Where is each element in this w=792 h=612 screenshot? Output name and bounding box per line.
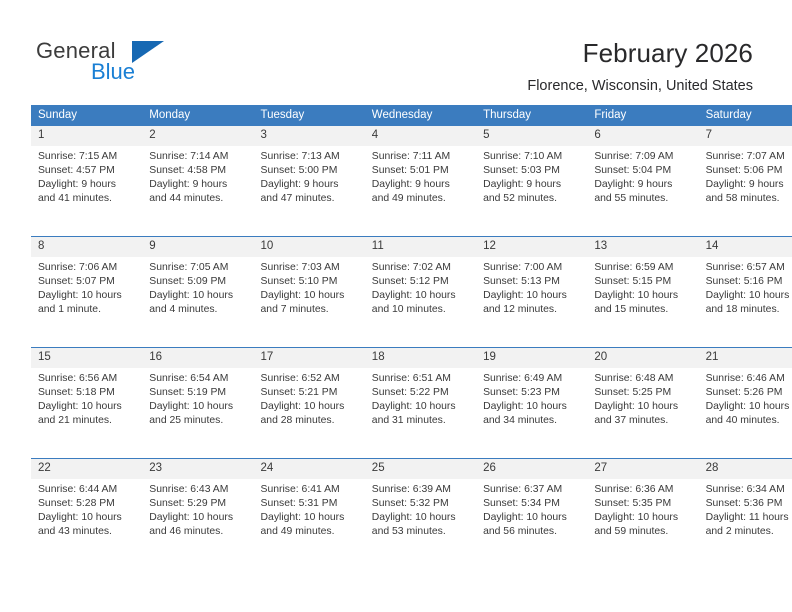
daylight-duration-line1: Daylight: 10 hours [261,400,359,414]
calendar-week-row: 22Sunrise: 6:44 AMSunset: 5:28 PMDayligh… [31,459,792,570]
daylight-duration-line2: and 58 minutes. [706,192,792,206]
day-number: 14 [699,237,792,257]
daylight-duration-line2: and 55 minutes. [594,192,692,206]
daylight-duration-line2: and 47 minutes. [261,192,359,206]
day-details: Sunrise: 7:06 AMSunset: 5:07 PMDaylight:… [31,257,142,317]
sunrise-time: Sunrise: 6:49 AM [483,372,581,386]
sunrise-time: Sunrise: 6:34 AM [706,483,792,497]
daylight-duration-line1: Daylight: 10 hours [372,400,470,414]
calendar-day-cell[interactable]: 25Sunrise: 6:39 AMSunset: 5:32 PMDayligh… [365,459,476,570]
daylight-duration-line2: and 56 minutes. [483,525,581,539]
daylight-duration-line2: and 43 minutes. [38,525,136,539]
sunset-time: Sunset: 5:15 PM [594,275,692,289]
day-details: Sunrise: 7:11 AMSunset: 5:01 PMDaylight:… [365,146,476,206]
day-number: 28 [699,459,792,479]
day-details: Sunrise: 6:37 AMSunset: 5:34 PMDaylight:… [476,479,587,539]
sunrise-time: Sunrise: 6:57 AM [706,261,792,275]
sunset-time: Sunset: 5:01 PM [372,164,470,178]
sunrise-time: Sunrise: 6:41 AM [261,483,359,497]
sunrise-time: Sunrise: 7:13 AM [261,150,359,164]
daylight-duration-line1: Daylight: 9 hours [706,178,792,192]
day-details: Sunrise: 6:36 AMSunset: 5:35 PMDaylight:… [587,479,698,539]
sunrise-time: Sunrise: 6:54 AM [149,372,247,386]
daylight-duration-line1: Daylight: 10 hours [594,289,692,303]
day-number: 10 [254,237,365,257]
weekday-header-sunday: Sunday [31,105,142,126]
sunset-time: Sunset: 5:00 PM [261,164,359,178]
calendar-week-row: 15Sunrise: 6:56 AMSunset: 5:18 PMDayligh… [31,348,792,459]
calendar-day-cell[interactable]: 28Sunrise: 6:34 AMSunset: 5:36 PMDayligh… [699,459,792,570]
weekday-header-tuesday: Tuesday [254,105,365,126]
daylight-duration-line2: and 4 minutes. [149,303,247,317]
daylight-duration-line2: and 7 minutes. [261,303,359,317]
day-details: Sunrise: 6:59 AMSunset: 5:15 PMDaylight:… [587,257,698,317]
calendar-day-cell[interactable]: 2Sunrise: 7:14 AMSunset: 4:58 PMDaylight… [142,126,253,237]
sunrise-time: Sunrise: 7:14 AM [149,150,247,164]
sunrise-time: Sunrise: 7:07 AM [706,150,792,164]
day-number: 22 [31,459,142,479]
day-number: 19 [476,348,587,368]
sunrise-time: Sunrise: 6:51 AM [372,372,470,386]
calendar-day-cell[interactable]: 6Sunrise: 7:09 AMSunset: 5:04 PMDaylight… [587,126,698,237]
sunrise-time: Sunrise: 6:48 AM [594,372,692,386]
daylight-duration-line2: and 52 minutes. [483,192,581,206]
daylight-duration-line1: Daylight: 9 hours [594,178,692,192]
sunset-time: Sunset: 5:22 PM [372,386,470,400]
calendar-week-row: 8Sunrise: 7:06 AMSunset: 5:07 PMDaylight… [31,237,792,348]
sunrise-time: Sunrise: 7:03 AM [261,261,359,275]
day-number: 17 [254,348,365,368]
day-details: Sunrise: 7:10 AMSunset: 5:03 PMDaylight:… [476,146,587,206]
calendar-day-cell[interactable]: 8Sunrise: 7:06 AMSunset: 5:07 PMDaylight… [31,237,142,348]
day-details: Sunrise: 7:15 AMSunset: 4:57 PMDaylight:… [31,146,142,206]
daylight-duration-line2: and 34 minutes. [483,414,581,428]
day-details: Sunrise: 6:39 AMSunset: 5:32 PMDaylight:… [365,479,476,539]
sunset-time: Sunset: 4:57 PM [38,164,136,178]
daylight-duration-line1: Daylight: 10 hours [372,289,470,303]
daylight-duration-line2: and 28 minutes. [261,414,359,428]
day-number: 26 [476,459,587,479]
sunset-time: Sunset: 5:26 PM [706,386,792,400]
calendar-day-cell[interactable]: 13Sunrise: 6:59 AMSunset: 5:15 PMDayligh… [587,237,698,348]
day-number: 13 [587,237,698,257]
sunset-time: Sunset: 5:28 PM [38,497,136,511]
sunrise-time: Sunrise: 6:52 AM [261,372,359,386]
sunset-time: Sunset: 5:34 PM [483,497,581,511]
weekday-header-thursday: Thursday [476,105,587,126]
day-details: Sunrise: 7:00 AMSunset: 5:13 PMDaylight:… [476,257,587,317]
daylight-duration-line2: and 2 minutes. [706,525,792,539]
calendar-day-cell[interactable]: 9Sunrise: 7:05 AMSunset: 5:09 PMDaylight… [142,237,253,348]
daylight-duration-line1: Daylight: 9 hours [38,178,136,192]
sunrise-time: Sunrise: 7:00 AM [483,261,581,275]
day-details: Sunrise: 6:56 AMSunset: 5:18 PMDaylight:… [31,368,142,428]
daylight-duration-line1: Daylight: 10 hours [261,289,359,303]
daylight-duration-line2: and 49 minutes. [372,192,470,206]
calendar-day-cell[interactable]: 20Sunrise: 6:48 AMSunset: 5:25 PMDayligh… [587,348,698,459]
day-details: Sunrise: 7:07 AMSunset: 5:06 PMDaylight:… [699,146,792,206]
day-details: Sunrise: 7:03 AMSunset: 5:10 PMDaylight:… [254,257,365,317]
sunrise-time: Sunrise: 7:02 AM [372,261,470,275]
day-details: Sunrise: 6:52 AMSunset: 5:21 PMDaylight:… [254,368,365,428]
daylight-duration-line2: and 40 minutes. [706,414,792,428]
day-number: 27 [587,459,698,479]
day-details: Sunrise: 7:05 AMSunset: 5:09 PMDaylight:… [142,257,253,317]
daylight-duration-line2: and 59 minutes. [594,525,692,539]
weekday-header-wednesday: Wednesday [365,105,476,126]
calendar-day-cell[interactable]: 14Sunrise: 6:57 AMSunset: 5:16 PMDayligh… [699,237,792,348]
daylight-duration-line1: Daylight: 9 hours [483,178,581,192]
daylight-duration-line1: Daylight: 10 hours [594,511,692,525]
day-details: Sunrise: 6:48 AMSunset: 5:25 PMDaylight:… [587,368,698,428]
sunset-time: Sunset: 5:29 PM [149,497,247,511]
daylight-duration-line1: Daylight: 10 hours [149,511,247,525]
daylight-duration-line2: and 21 minutes. [38,414,136,428]
daylight-duration-line2: and 46 minutes. [149,525,247,539]
calendar-day-cell[interactable]: 23Sunrise: 6:43 AMSunset: 5:29 PMDayligh… [142,459,253,570]
calendar-page: General Blue February 2026 Florence, Wis… [0,0,792,612]
calendar-day-cell[interactable]: 19Sunrise: 6:49 AMSunset: 5:23 PMDayligh… [476,348,587,459]
sunrise-sunset-calendar: Sunday Monday Tuesday Wednesday Thursday… [31,105,792,569]
day-number: 1 [31,126,142,146]
sunrise-time: Sunrise: 6:39 AM [372,483,470,497]
day-details: Sunrise: 6:57 AMSunset: 5:16 PMDaylight:… [699,257,792,317]
sunset-time: Sunset: 5:03 PM [483,164,581,178]
day-details: Sunrise: 6:44 AMSunset: 5:28 PMDaylight:… [31,479,142,539]
page-header: General Blue February 2026 Florence, Wis… [0,26,792,100]
sunrise-time: Sunrise: 7:05 AM [149,261,247,275]
day-details: Sunrise: 7:14 AMSunset: 4:58 PMDaylight:… [142,146,253,206]
day-number: 9 [142,237,253,257]
day-details: Sunrise: 6:43 AMSunset: 5:29 PMDaylight:… [142,479,253,539]
calendar-day-cell[interactable]: 10Sunrise: 7:03 AMSunset: 5:10 PMDayligh… [254,237,365,348]
daylight-duration-line1: Daylight: 10 hours [149,400,247,414]
day-number: 3 [254,126,365,146]
sunrise-time: Sunrise: 6:43 AM [149,483,247,497]
sunset-time: Sunset: 5:13 PM [483,275,581,289]
daylight-duration-line1: Daylight: 11 hours [706,511,792,525]
calendar-day-cell[interactable]: 27Sunrise: 6:36 AMSunset: 5:35 PMDayligh… [587,459,698,570]
daylight-duration-line1: Daylight: 10 hours [483,511,581,525]
day-number: 23 [142,459,253,479]
sunset-time: Sunset: 5:36 PM [706,497,792,511]
calendar-day-cell[interactable]: 24Sunrise: 6:41 AMSunset: 5:31 PMDayligh… [254,459,365,570]
calendar-week-row: 1Sunrise: 7:15 AMSunset: 4:57 PMDaylight… [31,126,792,237]
daylight-duration-line1: Daylight: 9 hours [372,178,470,192]
calendar-day-cell[interactable]: 15Sunrise: 6:56 AMSunset: 5:18 PMDayligh… [31,348,142,459]
sunset-time: Sunset: 5:04 PM [594,164,692,178]
daylight-duration-line2: and 18 minutes. [706,303,792,317]
location-subtitle: Florence, Wisconsin, United States [527,78,753,94]
sunset-time: Sunset: 5:25 PM [594,386,692,400]
day-details: Sunrise: 6:51 AMSunset: 5:22 PMDaylight:… [365,368,476,428]
calendar-body: 1Sunrise: 7:15 AMSunset: 4:57 PMDaylight… [31,126,792,569]
day-number: 7 [699,126,792,146]
sunset-time: Sunset: 5:21 PM [261,386,359,400]
sunset-time: Sunset: 5:19 PM [149,386,247,400]
calendar-day-cell[interactable]: 4Sunrise: 7:11 AMSunset: 5:01 PMDaylight… [365,126,476,237]
daylight-duration-line1: Daylight: 10 hours [261,511,359,525]
calendar-day-cell[interactable]: 22Sunrise: 6:44 AMSunset: 5:28 PMDayligh… [31,459,142,570]
sunrise-time: Sunrise: 6:37 AM [483,483,581,497]
page-title: February 2026 [583,38,753,69]
brand-name-blue: Blue [91,59,135,85]
daylight-duration-line2: and 37 minutes. [594,414,692,428]
sunrise-time: Sunrise: 7:06 AM [38,261,136,275]
day-details: Sunrise: 7:09 AMSunset: 5:04 PMDaylight:… [587,146,698,206]
sunrise-time: Sunrise: 6:56 AM [38,372,136,386]
daylight-duration-line1: Daylight: 10 hours [38,289,136,303]
daylight-duration-line2: and 25 minutes. [149,414,247,428]
daylight-duration-line1: Daylight: 9 hours [149,178,247,192]
day-details: Sunrise: 7:13 AMSunset: 5:00 PMDaylight:… [254,146,365,206]
sunrise-time: Sunrise: 6:44 AM [38,483,136,497]
sunrise-time: Sunrise: 6:59 AM [594,261,692,275]
triangle-icon [132,41,164,63]
weekday-header-saturday: Saturday [699,105,792,126]
daylight-duration-line2: and 10 minutes. [372,303,470,317]
daylight-duration-line2: and 44 minutes. [149,192,247,206]
daylight-duration-line1: Daylight: 10 hours [706,400,792,414]
day-number: 18 [365,348,476,368]
calendar-day-cell[interactable]: 21Sunrise: 6:46 AMSunset: 5:26 PMDayligh… [699,348,792,459]
day-number: 4 [365,126,476,146]
sunset-time: Sunset: 5:16 PM [706,275,792,289]
daylight-duration-line2: and 53 minutes. [372,525,470,539]
sunset-time: Sunset: 5:10 PM [261,275,359,289]
day-details: Sunrise: 6:46 AMSunset: 5:26 PMDaylight:… [699,368,792,428]
day-number: 6 [587,126,698,146]
daylight-duration-line1: Daylight: 10 hours [38,511,136,525]
calendar-day-cell[interactable]: 18Sunrise: 6:51 AMSunset: 5:22 PMDayligh… [365,348,476,459]
sunrise-time: Sunrise: 7:11 AM [372,150,470,164]
day-number: 8 [31,237,142,257]
day-number: 5 [476,126,587,146]
sunrise-time: Sunrise: 7:09 AM [594,150,692,164]
sunset-time: Sunset: 5:23 PM [483,386,581,400]
daylight-duration-line1: Daylight: 10 hours [483,400,581,414]
day-details: Sunrise: 7:02 AMSunset: 5:12 PMDaylight:… [365,257,476,317]
calendar-day-cell[interactable]: 26Sunrise: 6:37 AMSunset: 5:34 PMDayligh… [476,459,587,570]
daylight-duration-line2: and 49 minutes. [261,525,359,539]
daylight-duration-line2: and 41 minutes. [38,192,136,206]
calendar-day-cell[interactable]: 5Sunrise: 7:10 AMSunset: 5:03 PMDaylight… [476,126,587,237]
daylight-duration-line2: and 12 minutes. [483,303,581,317]
sunset-time: Sunset: 5:31 PM [261,497,359,511]
weekday-header-monday: Monday [142,105,253,126]
daylight-duration-line1: Daylight: 10 hours [706,289,792,303]
calendar-day-cell[interactable]: 17Sunrise: 6:52 AMSunset: 5:21 PMDayligh… [254,348,365,459]
brand-logo[interactable]: General Blue [36,38,266,94]
calendar-day-cell[interactable]: 3Sunrise: 7:13 AMSunset: 5:00 PMDaylight… [254,126,365,237]
calendar-day-cell[interactable]: 16Sunrise: 6:54 AMSunset: 5:19 PMDayligh… [142,348,253,459]
calendar-day-cell[interactable]: 12Sunrise: 7:00 AMSunset: 5:13 PMDayligh… [476,237,587,348]
day-number: 12 [476,237,587,257]
sunset-time: Sunset: 5:09 PM [149,275,247,289]
weekday-header-friday: Friday [587,105,698,126]
day-number: 21 [699,348,792,368]
daylight-duration-line1: Daylight: 10 hours [38,400,136,414]
daylight-duration-line1: Daylight: 10 hours [594,400,692,414]
daylight-duration-line2: and 31 minutes. [372,414,470,428]
calendar-day-cell[interactable]: 11Sunrise: 7:02 AMSunset: 5:12 PMDayligh… [365,237,476,348]
sunrise-time: Sunrise: 6:36 AM [594,483,692,497]
day-details: Sunrise: 6:34 AMSunset: 5:36 PMDaylight:… [699,479,792,539]
weekday-header-row: Sunday Monday Tuesday Wednesday Thursday… [31,105,792,126]
daylight-duration-line1: Daylight: 10 hours [483,289,581,303]
day-number: 16 [142,348,253,368]
calendar-day-cell[interactable]: 1Sunrise: 7:15 AMSunset: 4:57 PMDaylight… [31,126,142,237]
daylight-duration-line1: Daylight: 9 hours [261,178,359,192]
sunset-time: Sunset: 5:07 PM [38,275,136,289]
sunset-time: Sunset: 5:35 PM [594,497,692,511]
daylight-duration-line2: and 15 minutes. [594,303,692,317]
day-number: 20 [587,348,698,368]
day-details: Sunrise: 6:49 AMSunset: 5:23 PMDaylight:… [476,368,587,428]
day-number: 2 [142,126,253,146]
day-number: 24 [254,459,365,479]
sunrise-time: Sunrise: 7:15 AM [38,150,136,164]
daylight-duration-line1: Daylight: 10 hours [149,289,247,303]
sunset-time: Sunset: 5:18 PM [38,386,136,400]
sunset-time: Sunset: 4:58 PM [149,164,247,178]
daylight-duration-line1: Daylight: 10 hours [372,511,470,525]
day-number: 11 [365,237,476,257]
sunset-time: Sunset: 5:32 PM [372,497,470,511]
day-number: 15 [31,348,142,368]
sunset-time: Sunset: 5:06 PM [706,164,792,178]
daylight-duration-line2: and 1 minute. [38,303,136,317]
sunrise-time: Sunrise: 7:10 AM [483,150,581,164]
day-number: 25 [365,459,476,479]
day-details: Sunrise: 6:41 AMSunset: 5:31 PMDaylight:… [254,479,365,539]
sunset-time: Sunset: 5:12 PM [372,275,470,289]
day-details: Sunrise: 6:54 AMSunset: 5:19 PMDaylight:… [142,368,253,428]
sunrise-time: Sunrise: 6:46 AM [706,372,792,386]
calendar-day-cell[interactable]: 7Sunrise: 7:07 AMSunset: 5:06 PMDaylight… [699,126,792,237]
